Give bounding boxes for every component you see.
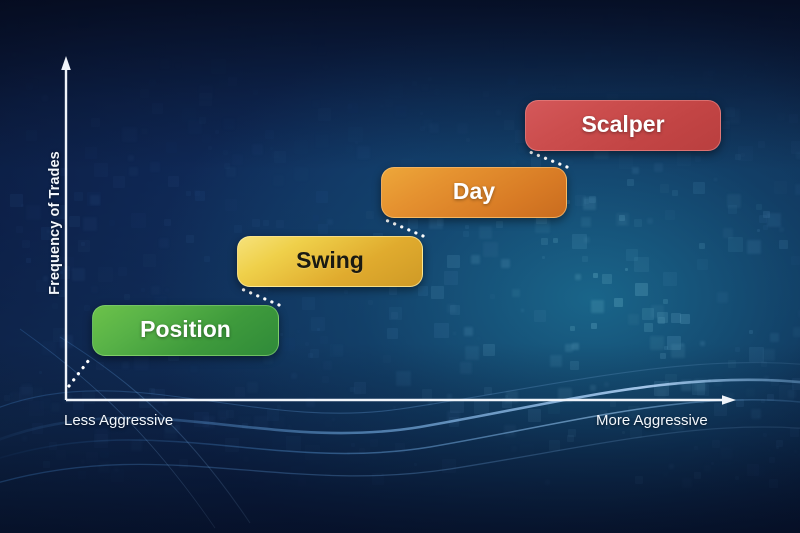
- x-axis-label-left: Less Aggressive: [64, 412, 173, 429]
- x-axis-arrowhead: [722, 395, 736, 405]
- y-axis-label: Frequency of Trades: [47, 123, 63, 323]
- step-box-swing[interactable]: Swing: [237, 236, 423, 287]
- step-box-scalper-label: Scalper: [581, 111, 664, 138]
- step-box-position[interactable]: Position: [92, 305, 279, 356]
- infographic-canvas: Frequency of Trades Less Aggressive More…: [0, 0, 800, 533]
- step-box-position-label: Position: [140, 316, 231, 343]
- step-box-scalper[interactable]: Scalper: [525, 100, 721, 151]
- x-axis-label-right: More Aggressive: [596, 412, 708, 429]
- step-box-swing-label: Swing: [296, 247, 364, 274]
- y-axis-arrowhead: [61, 56, 71, 70]
- step-box-day[interactable]: Day: [381, 167, 567, 218]
- step-box-day-label: Day: [453, 178, 495, 205]
